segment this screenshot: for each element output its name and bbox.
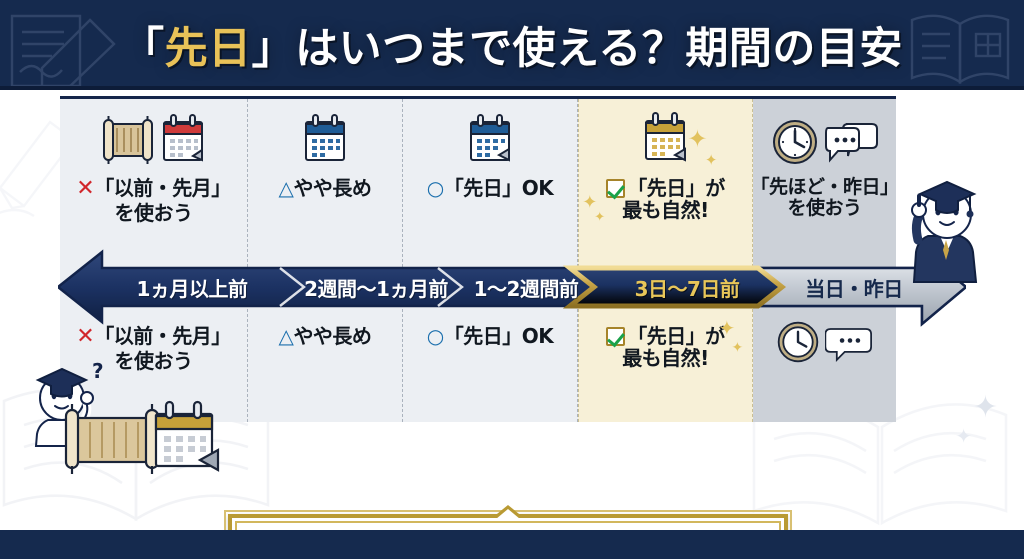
column-5-top-line1: 「先ほど・昨日」 (751, 176, 899, 198)
column-2-top-cell: △やや長め (248, 109, 402, 245)
calendar-red-icon (159, 112, 207, 173)
column-3-bottom-caption: ○「先日」OK (427, 325, 553, 347)
column-4-top-line1: 「先日」が (627, 176, 725, 200)
callout-pointer (492, 505, 524, 518)
timeline-segment-5-label: 当日・昨日 (805, 273, 903, 302)
sparkle-icon-left-small: ✦ (594, 211, 604, 226)
circle-mark-icon: ○ (427, 176, 444, 200)
scroll-icon (101, 112, 155, 173)
sparkle-icon-bottom-small: ✦ (732, 341, 743, 357)
column-5-top-caption: 「先ほど・昨日」 を使おう (751, 177, 899, 220)
timeline-segment-4-label: 3日～7日前 (635, 273, 740, 302)
sparkle-icon-left: ✦ (582, 193, 597, 213)
checkbox-checked-icon (606, 179, 625, 198)
sparkle-icon-decor-2: ✦ (955, 424, 972, 449)
sparkle-icon-small: ✦ (705, 151, 718, 169)
column-5-bottom-cell (753, 321, 896, 425)
infographic-canvas: 「先日」はいつまで使える？期間の目安 (0, 0, 1024, 559)
timeline-segment-5[interactable]: 当日・昨日 (784, 260, 924, 314)
column-4-bottom-line2: 最も自然! (606, 347, 725, 369)
column-3-top-caption: ○「先日」OK (427, 177, 553, 199)
column-2-bottom-caption: △やや長め (279, 325, 372, 347)
calendar-gold-icon (640, 110, 692, 173)
column-3-top-line1: 「先日」OK (444, 176, 554, 200)
column-4-bottom-caption: 「先日」が 最も自然! ✦ ✦ (606, 325, 725, 370)
column-4-top-cell: ✦ ✦ 「先日」が 最も自然! ✦ ✦ (579, 109, 752, 245)
column-5-top-cell: 「先ほど・昨日」 を使おう (753, 109, 896, 245)
content-stage: ✕「以前・先月」 を使おう ✕「以前・先月」 を使おう (0, 90, 1024, 530)
column-4-top-caption: 「先日」が 最も自然! ✦ ✦ (606, 177, 725, 222)
column-1-top-caption: ✕「以前・先月」 を使おう (76, 177, 230, 224)
clock-icon (770, 116, 820, 173)
column-1-top-cell: ✕「以前・先月」 を使おう (60, 109, 247, 245)
timeline-segment-3[interactable]: 1～2週間前 (456, 260, 596, 314)
title-gold-word: 先日 (165, 24, 252, 74)
header-banner: 「先日」はいつまで使える？期間の目安 (0, 0, 1024, 90)
column-3-icons (466, 109, 514, 173)
column-2-top-caption: △やや長め (279, 177, 372, 199)
timeline-segment-4-highlight[interactable]: 3日～7日前 (594, 260, 780, 314)
svg-text:?: ? (92, 359, 104, 383)
timeline-segment-2[interactable]: 2週間～1ヵ月前 (296, 260, 456, 314)
column-4-icons: ✦ ✦ (640, 109, 692, 173)
x-mark-icon: ✕ (76, 176, 94, 201)
timeline-segment-1-label: 1ヵ月以上前 (137, 273, 248, 302)
triangle-mark-icon: △ (279, 176, 294, 200)
golden-zone-callout: 「先日」の黄金ゾーン＝3日～2週間以内 ・ビジネスメールで自信を持って使える (228, 514, 788, 530)
footer-strip (0, 530, 1024, 559)
column-5-top-line2: を使おう (751, 198, 899, 219)
calendar-gold-icon-decor (148, 396, 240, 487)
timeline-segment-1[interactable]: 1ヵ月以上前 (102, 260, 282, 314)
speech-bubble-icon (824, 118, 880, 173)
column-1-top-line1: 「以前・先月」 (94, 176, 231, 200)
column-4-top-line2: 最も自然! (606, 199, 725, 221)
timeline-arrow: 1ヵ月以上前 2週間～1ヵ月前 1～2週間前 3日～7日前 当日・昨日 (58, 246, 966, 328)
column-2-top-line1: やや長め (293, 176, 371, 200)
column-2-icons (301, 109, 349, 173)
title-prefix: 「 (121, 24, 165, 74)
column-3-bottom-cell: ○「先日」OK (403, 321, 577, 425)
calendar-blue-icon (466, 112, 514, 173)
column-4-bottom-cell: 「先日」が 最も自然! ✦ ✦ (579, 321, 752, 425)
column-2-bottom-cell: △やや長め (248, 321, 402, 425)
sparkle-icon-decor: ✦ (973, 390, 998, 425)
timeline-segment-3-label: 1～2週間前 (474, 273, 579, 302)
column-3-top-cell: ○「先日」OK (403, 109, 577, 245)
page-title: 「先日」はいつまで使える？期間の目安 (0, 14, 1024, 76)
checkbox-checked-icon-bottom (606, 327, 625, 346)
column-1-icons (101, 109, 207, 173)
column-5-bottom-icons (775, 321, 875, 371)
speech-bubble-icon-bottom (825, 322, 875, 371)
graduate-pointing-character (904, 166, 990, 289)
column-1-top-line2: を使おう (76, 202, 230, 224)
timeline-segment-2-label: 2週間～1ヵ月前 (304, 273, 448, 302)
title-rest: 」はいつまで使える？期間の目安 (252, 24, 903, 74)
calendar-blue-icon (301, 112, 349, 173)
column-5-icons (770, 109, 880, 173)
